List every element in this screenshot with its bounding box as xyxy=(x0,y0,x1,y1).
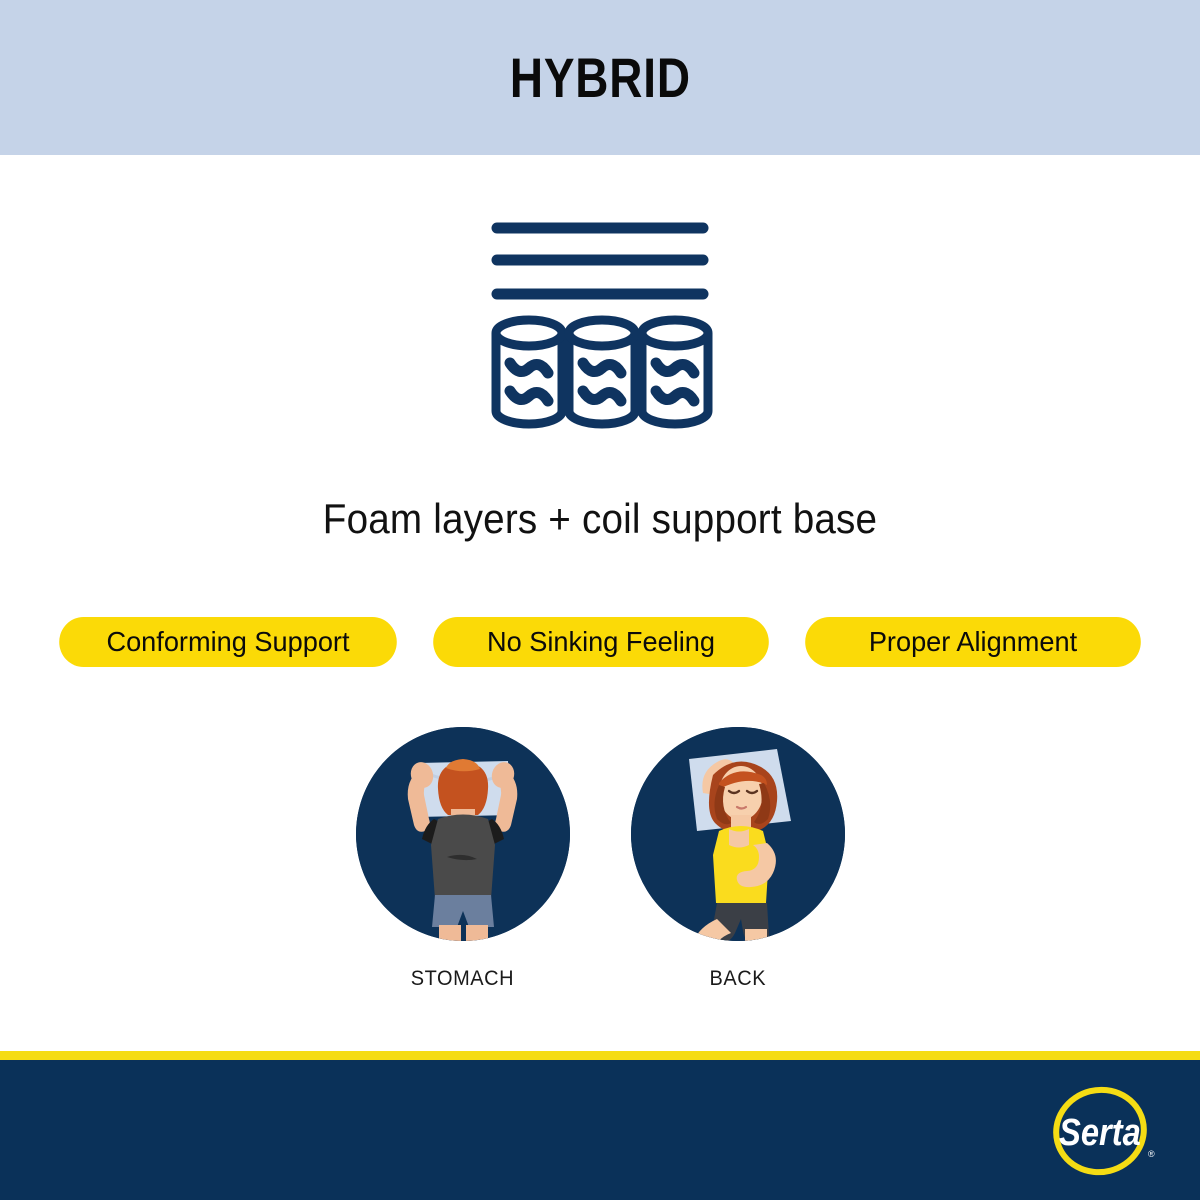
headline-text: Foam layers + coil support base xyxy=(48,495,1152,543)
benefit-pill-label: Conforming Support xyxy=(106,626,349,658)
sleep-position-stomach: STOMACH xyxy=(340,727,585,991)
benefit-pill-row: Conforming Support No Sinking Feeling Pr… xyxy=(54,617,1146,667)
sleep-position-circle xyxy=(356,727,570,941)
sleep-position-label: BACK xyxy=(709,967,766,991)
hybrid-mattress-coils-icon xyxy=(485,215,715,435)
benefit-pill-label: No Sinking Feeling xyxy=(487,626,715,658)
main-content: Foam layers + coil support base Conformi… xyxy=(0,155,1200,1051)
coil-1 xyxy=(496,320,562,424)
footer-accent-stripe xyxy=(0,1051,1200,1060)
header-band: HYBRID xyxy=(0,0,1200,155)
sleep-position-circle xyxy=(631,727,845,941)
benefit-pill-label: Proper Alignment xyxy=(869,626,1077,658)
benefit-pill-conforming-support: Conforming Support xyxy=(59,617,397,667)
sleep-position-row: STOMACH xyxy=(0,727,1200,991)
serta-logo[interactable]: Serta ® xyxy=(1044,1085,1164,1183)
stomach-sleeper-illustration xyxy=(356,727,570,941)
back-sleeper-illustration xyxy=(631,727,845,941)
benefit-pill-no-sinking-feeling: No Sinking Feeling xyxy=(433,617,769,667)
page-title: HYBRID xyxy=(510,45,691,110)
serta-logo-text: Serta xyxy=(1059,1111,1141,1154)
serta-logo-mark: Serta ® xyxy=(1044,1085,1164,1183)
coil-2 xyxy=(569,320,635,424)
sleep-position-label: STOMACH xyxy=(411,967,514,991)
benefit-pill-proper-alignment: Proper Alignment xyxy=(805,617,1141,667)
sleep-position-back: BACK xyxy=(615,727,860,991)
registered-mark-icon: ® xyxy=(1148,1149,1155,1159)
coil-3 xyxy=(642,320,708,424)
footer-band xyxy=(0,1060,1200,1200)
mattress-icon-container xyxy=(0,215,1200,435)
